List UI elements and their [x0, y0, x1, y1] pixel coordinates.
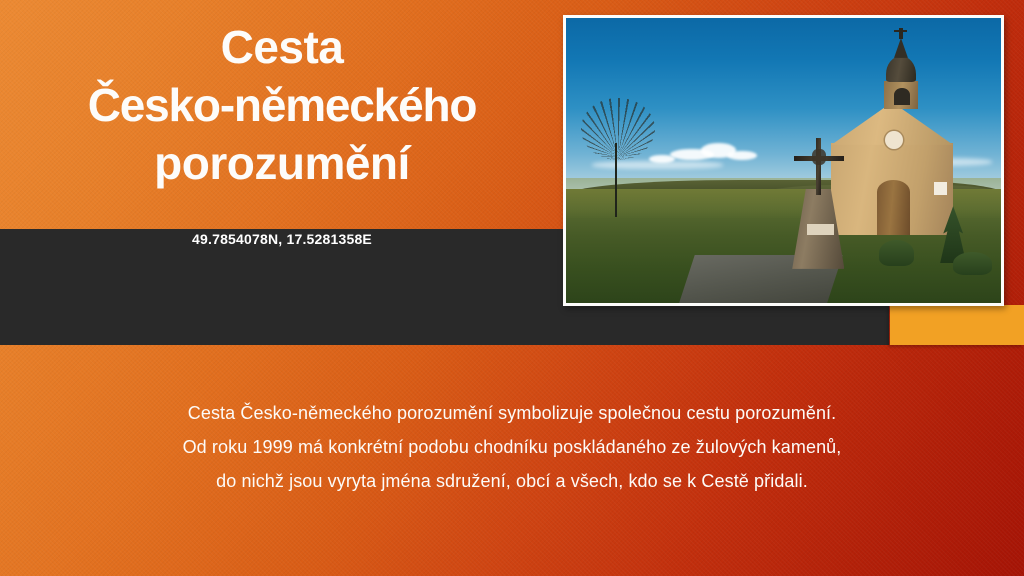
- title-line-3: porozumění: [0, 134, 564, 192]
- body-line-1: Cesta Česko-německého porozumění symboli…: [0, 396, 1024, 430]
- coordinates-label: 49.7854078N, 17.5281358E: [0, 231, 564, 247]
- shrub: [953, 252, 992, 275]
- accent-block: [890, 305, 1024, 345]
- tower-cross-icon: [894, 30, 907, 32]
- crucifix-figure: [812, 149, 826, 165]
- bare-tree-trunk: [615, 143, 617, 217]
- shrub: [879, 240, 914, 266]
- page-title: Cesta Česko-německého porozumění: [0, 18, 564, 192]
- bell-tower-arch: [894, 88, 910, 105]
- chapel-oculus-window: [885, 131, 903, 150]
- bare-tree-crown: [581, 98, 655, 161]
- slide: Cesta Česko-německého porozumění 49.7854…: [0, 0, 1024, 576]
- photo-frame: [563, 15, 1004, 306]
- crucifix-icon: [816, 138, 822, 195]
- body-text: Cesta Česko-německého porozumění symboli…: [0, 396, 1024, 498]
- chapel-photo: [566, 18, 1001, 303]
- body-line-2: Od roku 1999 má konkrétní podobu chodník…: [0, 430, 1024, 464]
- cloud-icon: [592, 161, 723, 170]
- chapel-plaque: [934, 182, 947, 195]
- monument-plaque: [807, 224, 833, 234]
- chapel-door: [877, 180, 910, 234]
- title-line-1: Cesta: [0, 18, 564, 76]
- body-line-3: do nichž jsou vyryta jména sdružení, obc…: [0, 464, 1024, 498]
- title-line-2: Česko-německého: [0, 76, 564, 134]
